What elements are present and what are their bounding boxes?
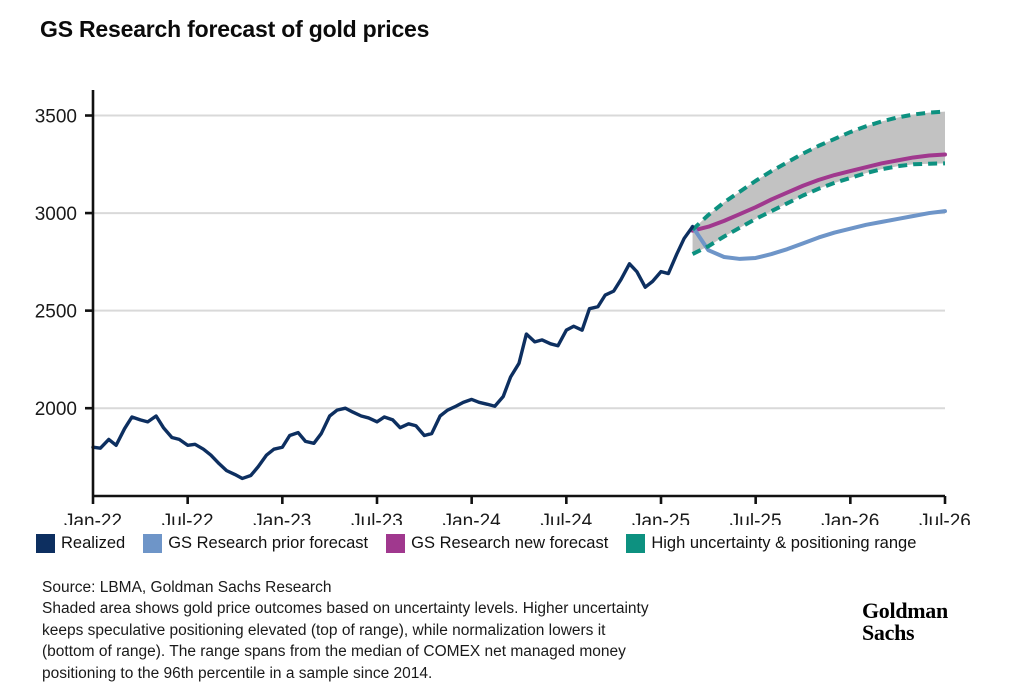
legend-label: GS Research prior forecast [168, 534, 368, 553]
x-tick-label: Jan-24 [443, 511, 502, 525]
note-line-1: Shaded area shows gold price outcomes ba… [42, 598, 782, 620]
y-tick-label: 3500 [35, 107, 77, 128]
legend-label: Realized [61, 534, 125, 553]
legend-swatch-new-forecast [386, 534, 405, 553]
legend-label: High uncertainty & positioning range [651, 534, 916, 553]
legend-item[interactable]: High uncertainty & positioning range [626, 534, 916, 553]
chart-plot-area: 2000250030003500 Jan-22Jul-22Jan-23Jul-2… [0, 60, 1024, 525]
page-title: GS Research forecast of gold prices [40, 16, 429, 43]
x-tick-label: Jul-24 [540, 511, 592, 525]
legend-swatch-realized [36, 534, 55, 553]
note-line-3: (bottom of range). The range spans from … [42, 641, 782, 663]
chart-footnotes: Source: LBMA, Goldman Sachs Research Sha… [42, 577, 782, 684]
uncertainty-band-fill [693, 112, 945, 254]
legend-swatch-prior-forecast [143, 534, 162, 553]
y-tick-label: 2000 [35, 399, 77, 420]
x-tick-label: Jul-25 [730, 511, 782, 525]
source-line: Source: LBMA, Goldman Sachs Research [42, 577, 782, 598]
legend-item[interactable]: Realized [36, 534, 125, 553]
legend-item[interactable]: GS Research new forecast [386, 534, 608, 553]
note-line-2: keeps speculative positioning elevated (… [42, 620, 782, 642]
y-tick-label: 2500 [35, 302, 77, 323]
chart-legend: RealizedGS Research prior forecastGS Res… [36, 534, 934, 553]
legend-swatch-uncertainty-band-edge [626, 534, 645, 553]
x-tick-label: Jan-26 [821, 511, 879, 525]
x-tick-label: Jan-22 [64, 511, 122, 525]
logo-line-1: Goldman [862, 600, 948, 622]
x-tick-label: Jan-23 [253, 511, 311, 525]
note-line-4: positioning to the 96th percentile in a … [42, 663, 782, 685]
y-axis-tick-labels: 2000250030003500 [35, 107, 77, 421]
y-tick-label: 3000 [35, 204, 77, 225]
logo-line-2: Sachs [862, 622, 948, 644]
legend-item[interactable]: GS Research prior forecast [143, 534, 368, 553]
series-line [93, 227, 693, 479]
gold-price-chart-svg: 2000250030003500 Jan-22Jul-22Jan-23Jul-2… [0, 60, 1024, 525]
x-tick-label: Jul-23 [351, 511, 403, 525]
goldman-sachs-logo: Goldman Sachs [862, 600, 948, 644]
x-tick-label: Jul-22 [162, 511, 214, 525]
x-tick-label: Jul-26 [919, 511, 971, 525]
chart-page: GS Research forecast of gold prices 2000… [0, 0, 1024, 700]
legend-label: GS Research new forecast [411, 534, 608, 553]
x-axis-tick-labels: Jan-22Jul-22Jan-23Jul-23Jan-24Jul-24Jan-… [64, 511, 971, 525]
x-tick-label: Jan-25 [632, 511, 690, 525]
uncertainty-band [693, 112, 945, 254]
